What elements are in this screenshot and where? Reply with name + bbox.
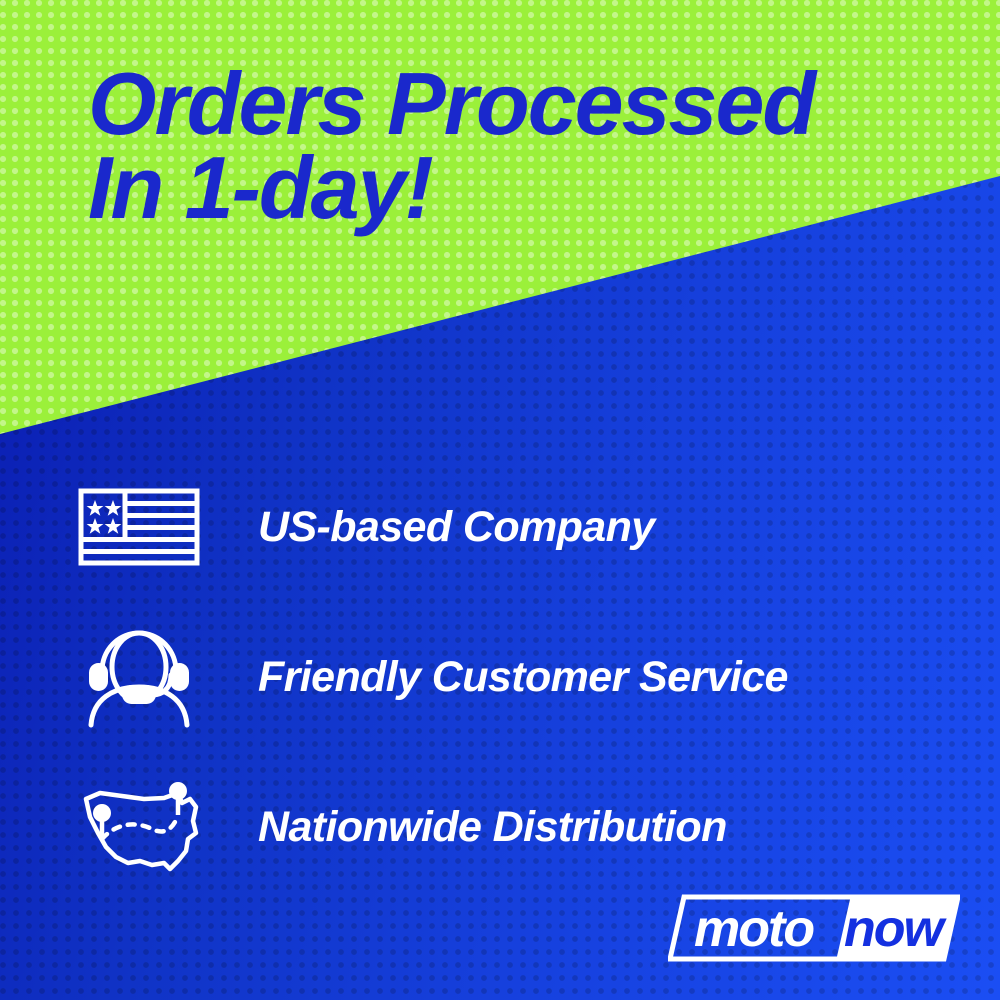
feature-label: Friendly Customer Service bbox=[258, 653, 788, 702]
logo-text-now: now bbox=[844, 900, 948, 958]
feature-label: US-based Company bbox=[258, 503, 655, 552]
us-map-distribution-icon bbox=[78, 777, 208, 877]
logo-text-moto: moto bbox=[694, 900, 814, 958]
headset-support-icon bbox=[78, 625, 208, 729]
motonow-logo[interactable]: moto now bbox=[668, 893, 960, 963]
feature-row: US-based Company bbox=[78, 452, 958, 602]
feature-label: Nationwide Distribution bbox=[258, 803, 727, 852]
feature-row: Friendly Customer Service bbox=[78, 602, 958, 752]
headline: Orders Processed In 1-day! bbox=[88, 62, 948, 231]
us-flag-icon bbox=[78, 488, 208, 566]
feature-row: Nationwide Distribution bbox=[78, 752, 958, 902]
promo-graphic-canvas: Orders Processed In 1-day! bbox=[0, 0, 1000, 1000]
feature-list: US-based Company bbox=[78, 452, 958, 902]
